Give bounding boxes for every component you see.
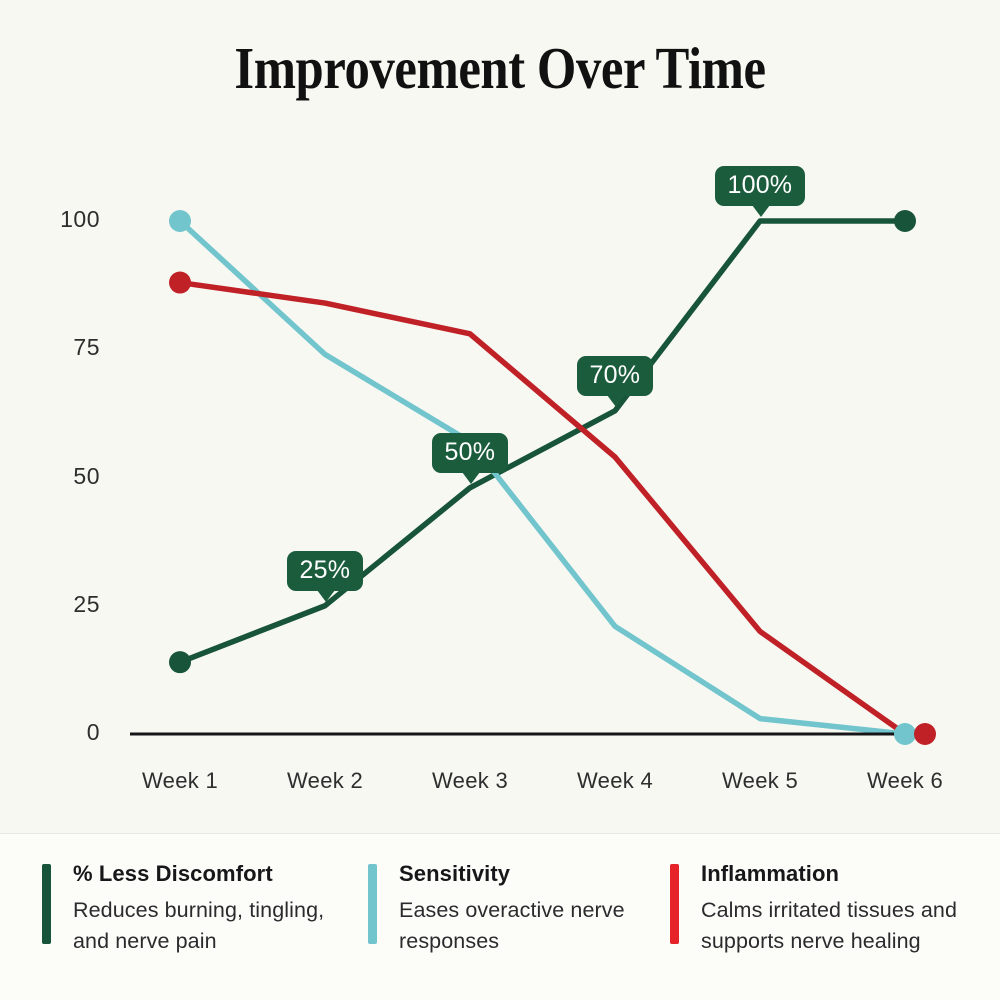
series-line-3 (180, 283, 905, 734)
legend-title-inflammation: Inflammation (701, 861, 1000, 887)
legend-title-discomfort: % Less Discomfort (73, 861, 360, 887)
callout-badge[interactable]: 70% (577, 356, 654, 396)
legend-text-sensitivity: Sensitivity Eases overactive nerve respo… (399, 861, 660, 956)
callout-badge[interactable]: 50% (432, 433, 509, 473)
legend-title-sensitivity: Sensitivity (399, 861, 660, 887)
legend-desc-sensitivity: Eases overactive nerve responses (399, 895, 660, 956)
y-axis-tick-label: 0 (30, 719, 100, 746)
chart-page: Improvement Over Time 0255075100 Week 1W… (0, 0, 1000, 1000)
y-axis-tick-label: 50 (30, 463, 100, 490)
legend-swatch-sensitivity (368, 864, 377, 944)
page-title: Improvement Over Time (70, 34, 930, 103)
legend-item-inflammation[interactable]: Inflammation Calms irritated tissues and… (660, 861, 1000, 956)
y-axis-tick-label: 100 (30, 206, 100, 233)
legend-desc-discomfort: Reduces burning, tingling, and nerve pai… (73, 895, 360, 956)
legend-text-inflammation: Inflammation Calms irritated tissues and… (701, 861, 1000, 956)
series-line-1 (180, 221, 905, 662)
callout-badge[interactable]: 25% (287, 551, 364, 591)
legend-swatch-discomfort (42, 864, 51, 944)
x-axis-tick-label: Week 6 (820, 768, 990, 794)
legend: % Less Discomfort Reduces burning, tingl… (0, 834, 1000, 1000)
legend-swatch-inflammation (670, 864, 679, 944)
plot-area: 0255075100 Week 1Week 2Week 3Week 4Week … (0, 120, 1000, 820)
callout-badge[interactable]: 100% (715, 166, 806, 206)
legend-item-discomfort[interactable]: % Less Discomfort Reduces burning, tingl… (0, 861, 360, 956)
legend-text-discomfort: % Less Discomfort Reduces burning, tingl… (73, 861, 360, 956)
data-point-marker[interactable] (169, 272, 191, 294)
data-point-marker[interactable] (894, 723, 916, 745)
y-axis-tick-label: 75 (30, 334, 100, 361)
data-point-marker[interactable] (894, 210, 916, 232)
data-point-marker[interactable] (169, 210, 191, 232)
y-axis-tick-label: 25 (30, 591, 100, 618)
legend-item-sensitivity[interactable]: Sensitivity Eases overactive nerve respo… (360, 861, 660, 956)
legend-desc-inflammation: Calms irritated tissues and supports ner… (701, 895, 1000, 956)
data-point-marker[interactable] (169, 651, 191, 673)
data-point-marker[interactable] (914, 723, 936, 745)
